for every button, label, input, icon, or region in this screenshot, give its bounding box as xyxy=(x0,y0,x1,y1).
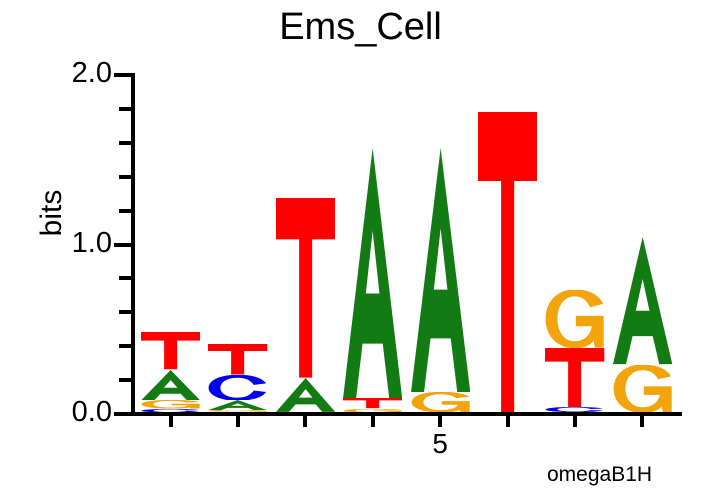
y-tick-label-2.0: 2.0 xyxy=(42,59,112,88)
y-tick-minor-0.4 xyxy=(119,344,131,348)
x-tick-3 xyxy=(303,416,307,427)
logo-letter-A-pos3 xyxy=(276,378,335,412)
logo-letter-G-pos8 xyxy=(613,365,672,412)
logo-letter-T-pos4 xyxy=(343,398,402,408)
y-tick-minor-1.8 xyxy=(119,107,131,111)
y-tick-minor-1.6 xyxy=(119,141,131,145)
logo-letter-C-pos2 xyxy=(208,375,267,400)
y-tick-label-0.0: 0.0 xyxy=(42,398,112,427)
y-tick-minor-1.4 xyxy=(119,175,131,179)
y-tick-minor-0.6 xyxy=(119,310,131,314)
x-tick-6 xyxy=(506,416,510,427)
logo-letter-C-pos7 xyxy=(545,407,604,412)
logo-letter-G-pos7 xyxy=(545,290,604,348)
logo-letter-C-pos1 xyxy=(141,409,200,412)
logo-stack-1 xyxy=(141,73,200,412)
y-tick-minor-1.2 xyxy=(119,209,131,213)
x-tick-7 xyxy=(573,416,577,427)
x-tick-2 xyxy=(236,416,240,427)
logo-letter-G-pos5 xyxy=(411,392,470,412)
logo-stack-6 xyxy=(478,73,537,412)
logo-stack-4 xyxy=(343,73,402,412)
y-tick-minor-0.8 xyxy=(119,276,131,280)
logo-letter-A-pos8 xyxy=(613,237,672,364)
logo-letter-T-pos1 xyxy=(141,332,200,369)
page-title: Ems_Cell xyxy=(0,6,721,49)
x-tick-label-5: 5 xyxy=(410,428,470,460)
x-tick-1 xyxy=(169,416,173,427)
y-tick-major-1.0 xyxy=(114,243,131,247)
y-axis-line xyxy=(131,73,135,416)
logo-stack-5 xyxy=(411,73,470,412)
sequence-logo-figure: Ems_Cell bits 2.01.00.05 omegaB1H xyxy=(0,0,721,496)
logo-stack-7 xyxy=(545,73,604,412)
logo-stack-2 xyxy=(208,73,267,412)
x-tick-4 xyxy=(371,416,375,427)
x-tick-8 xyxy=(640,416,644,427)
logo-letter-T-pos7 xyxy=(545,348,604,407)
logo-letter-A-pos1 xyxy=(141,370,200,401)
logo-stack-8 xyxy=(613,73,672,412)
y-tick-minor-0.2 xyxy=(119,378,131,382)
logo-letter-G-pos1 xyxy=(141,400,200,408)
logo-letter-G-pos4 xyxy=(343,409,402,412)
x-tick-5 xyxy=(438,416,442,427)
logo-letter-A-pos2 xyxy=(208,400,267,410)
logo-letter-G-pos2 xyxy=(208,410,267,412)
logo-stack-3 xyxy=(276,73,335,412)
logo-letter-T-pos6 xyxy=(478,112,537,412)
logo-letter-T-pos2 xyxy=(208,344,267,375)
x-axis-line xyxy=(131,412,682,416)
logo-letter-A-pos4 xyxy=(343,148,402,399)
logo-letter-T-pos3 xyxy=(276,198,335,378)
logo-letter-A-pos5 xyxy=(411,148,470,392)
y-tick-label-1.0: 1.0 xyxy=(42,229,112,258)
y-tick-major-2.0 xyxy=(114,73,131,77)
footer-right-label: omegaB1H xyxy=(547,463,652,487)
y-tick-major-0.0 xyxy=(114,412,131,416)
